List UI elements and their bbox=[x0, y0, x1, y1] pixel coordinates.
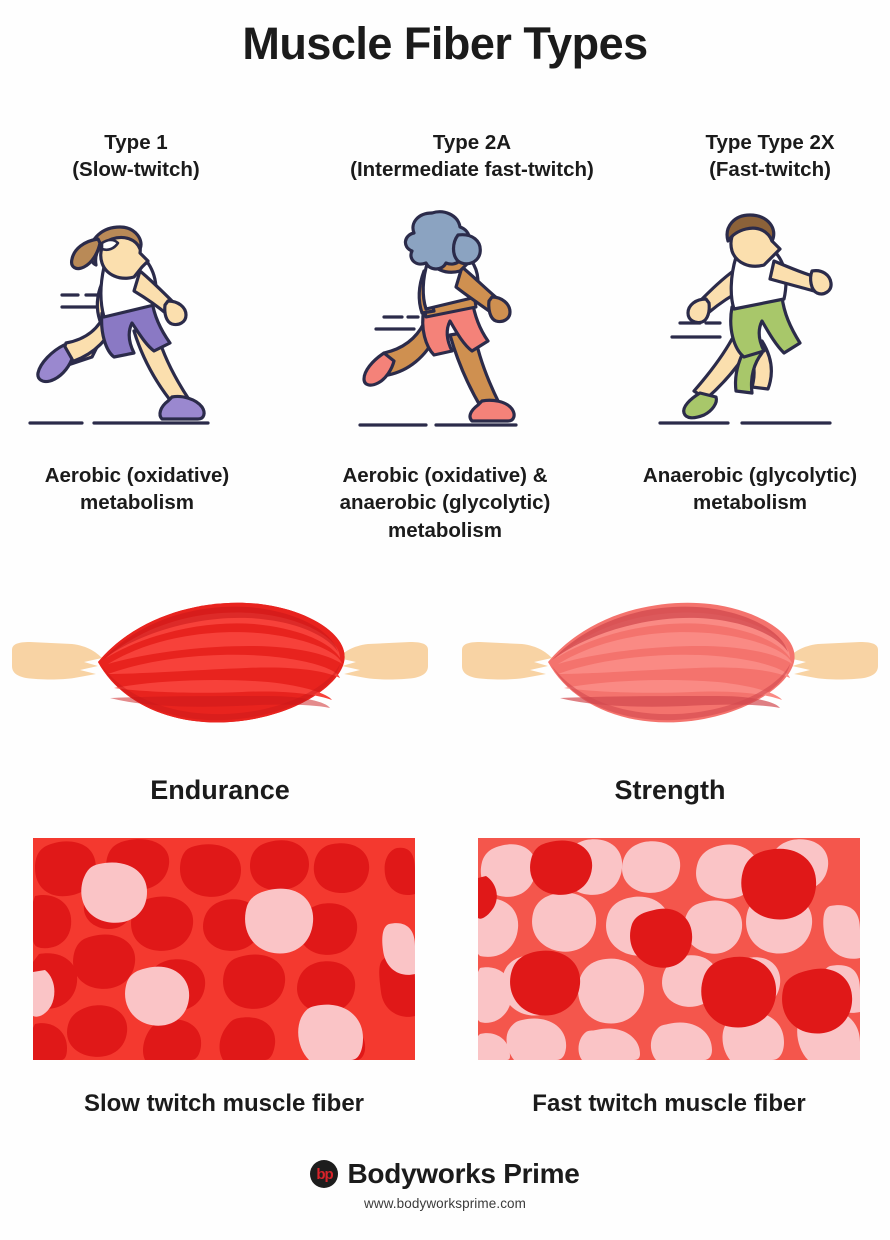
twitch-label: (Fast-twitch) bbox=[650, 156, 890, 183]
brand-url: www.bodyworksprime.com bbox=[364, 1196, 526, 1211]
twitch-label: (Slow-twitch) bbox=[18, 156, 254, 183]
column-header-type-2a: Type 2A (Intermediate fast-twitch) bbox=[312, 129, 632, 184]
fiber-caption-slow-twitch: Slow twitch muscle fiber bbox=[33, 1090, 415, 1118]
muscle-belly-icon-endurance bbox=[10, 592, 430, 732]
brand-name: Bodyworks Prime bbox=[347, 1158, 579, 1190]
bodyworks-prime-logo-icon: bp bbox=[310, 1160, 338, 1188]
muscle-label-endurance: Endurance bbox=[10, 775, 430, 806]
page-title: Muscle Fiber Types bbox=[0, 18, 890, 70]
female-jogger-icon bbox=[22, 205, 262, 440]
infographic-page: Muscle Fiber Types Type 1 (Slow-twitch) … bbox=[0, 0, 890, 1240]
muscle-belly-icon-strength bbox=[460, 592, 880, 732]
type-label: Type Type 2X bbox=[705, 131, 834, 154]
fiber-caption-fast-twitch: Fast twitch muscle fiber bbox=[478, 1090, 860, 1118]
column-header-type-1: Type 1 (Slow-twitch) bbox=[18, 129, 254, 184]
female-runner-icon bbox=[340, 205, 580, 440]
type-label: Type 2A bbox=[433, 131, 511, 154]
brand-row: bp Bodyworks Prime bbox=[310, 1158, 579, 1190]
metabolism-caption-type-1: Aerobic (oxidative) metabolism bbox=[8, 462, 266, 517]
footer-brand: bp Bodyworks Prime www.bodyworksprime.co… bbox=[0, 1158, 890, 1211]
muscle-cross-section-icon-fast bbox=[478, 838, 860, 1060]
column-header-type-2x: Type Type 2X (Fast-twitch) bbox=[650, 129, 890, 184]
muscle-label-strength: Strength bbox=[460, 775, 880, 806]
metabolism-caption-type-2x: Anaerobic (glycolytic) metabolism bbox=[610, 462, 890, 517]
muscle-cross-section-icon-slow bbox=[33, 838, 415, 1060]
twitch-label: (Intermediate fast-twitch) bbox=[312, 156, 632, 183]
male-sprinter-icon bbox=[650, 205, 890, 440]
type-label: Type 1 bbox=[104, 131, 167, 154]
metabolism-caption-type-2a: Aerobic (oxidative) & anaerobic (glycoly… bbox=[300, 462, 590, 544]
